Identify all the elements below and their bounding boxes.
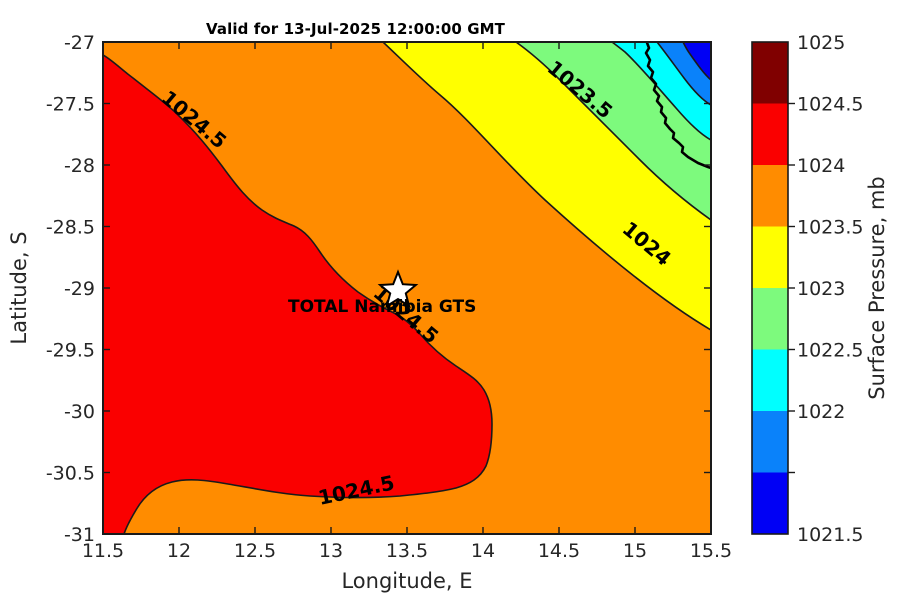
y-tick-label: -29.5: [46, 340, 95, 362]
colorbar-title: Surface Pressure, mb: [865, 176, 889, 399]
colorbar-swatch-1025: [752, 42, 788, 104]
y-tick-label: -28: [64, 155, 95, 177]
x-tick-label: 13: [319, 540, 343, 562]
figure-canvas: 1024.5 1023.5 1024 1024.5 1024.5 TOTAL N…: [0, 0, 900, 600]
x-tick-label: 12: [167, 540, 191, 562]
y-tick-label: -27: [64, 32, 95, 54]
colorbar-tick-label: 1023.5: [797, 217, 863, 239]
colorbar-swatch-1024_5: [752, 104, 788, 166]
y-tick-label: -30: [64, 401, 95, 423]
colorbar-tick-label: 1023: [797, 278, 845, 300]
colorbar-tick-label: 1021.5: [797, 524, 863, 546]
x-tick-label: 14.5: [538, 540, 580, 562]
colorbar-tick-label: 1022: [797, 401, 845, 423]
y-axis-title: Latitude, S: [7, 231, 31, 344]
y-tick-label: -29: [64, 278, 95, 300]
x-tick-label: 15.5: [690, 540, 732, 562]
colorbar-ticks: [788, 104, 795, 473]
colorbar-tick-label: 1025: [797, 32, 845, 54]
y-tick-label: -28.5: [46, 217, 95, 239]
colorbar-swatch-1022_5: [752, 350, 788, 412]
colorbar-tick-label: 1024: [797, 155, 845, 177]
colorbar-swatch-1024: [752, 165, 788, 227]
x-tick-label: 15: [623, 540, 647, 562]
x-tick-label: 13.5: [386, 540, 428, 562]
colorbar-swatch-1021_5: [752, 473, 788, 535]
x-tick-label: 12.5: [234, 540, 276, 562]
y-tick-labels: -27 -27.5 -28 -28.5 -29 -29.5 -30 -30.5 …: [46, 32, 95, 546]
colorbar[interactable]: 1025 1024.5 1024 1023.5 1023 1022.5 1022…: [752, 32, 889, 546]
colorbar-swatch-1023: [752, 288, 788, 350]
x-tick-labels: 11.5 12 12.5 13 13.5 14 14.5 15 15.5: [82, 540, 732, 562]
x-axis-title: Longitude, E: [341, 569, 472, 593]
y-tick-label: -30.5: [46, 463, 95, 485]
y-tick-label: -31: [64, 524, 95, 546]
colorbar-tick-labels: 1025 1024.5 1024 1023.5 1023 1022.5 1022…: [797, 32, 863, 546]
x-tick-label: 14: [471, 540, 495, 562]
contour-map-figure: Valid for 13-Jul-2025 12:00:00 GMT: [0, 0, 900, 600]
colorbar-swatch-1022: [752, 411, 788, 473]
colorbar-tick-label: 1022.5: [797, 340, 863, 362]
station-label: TOTAL Namibia GTS: [288, 297, 476, 317]
y-tick-label: -27.5: [46, 94, 95, 116]
colorbar-tick-label: 1024.5: [797, 94, 863, 116]
colorbar-swatch-1023_5: [752, 227, 788, 289]
